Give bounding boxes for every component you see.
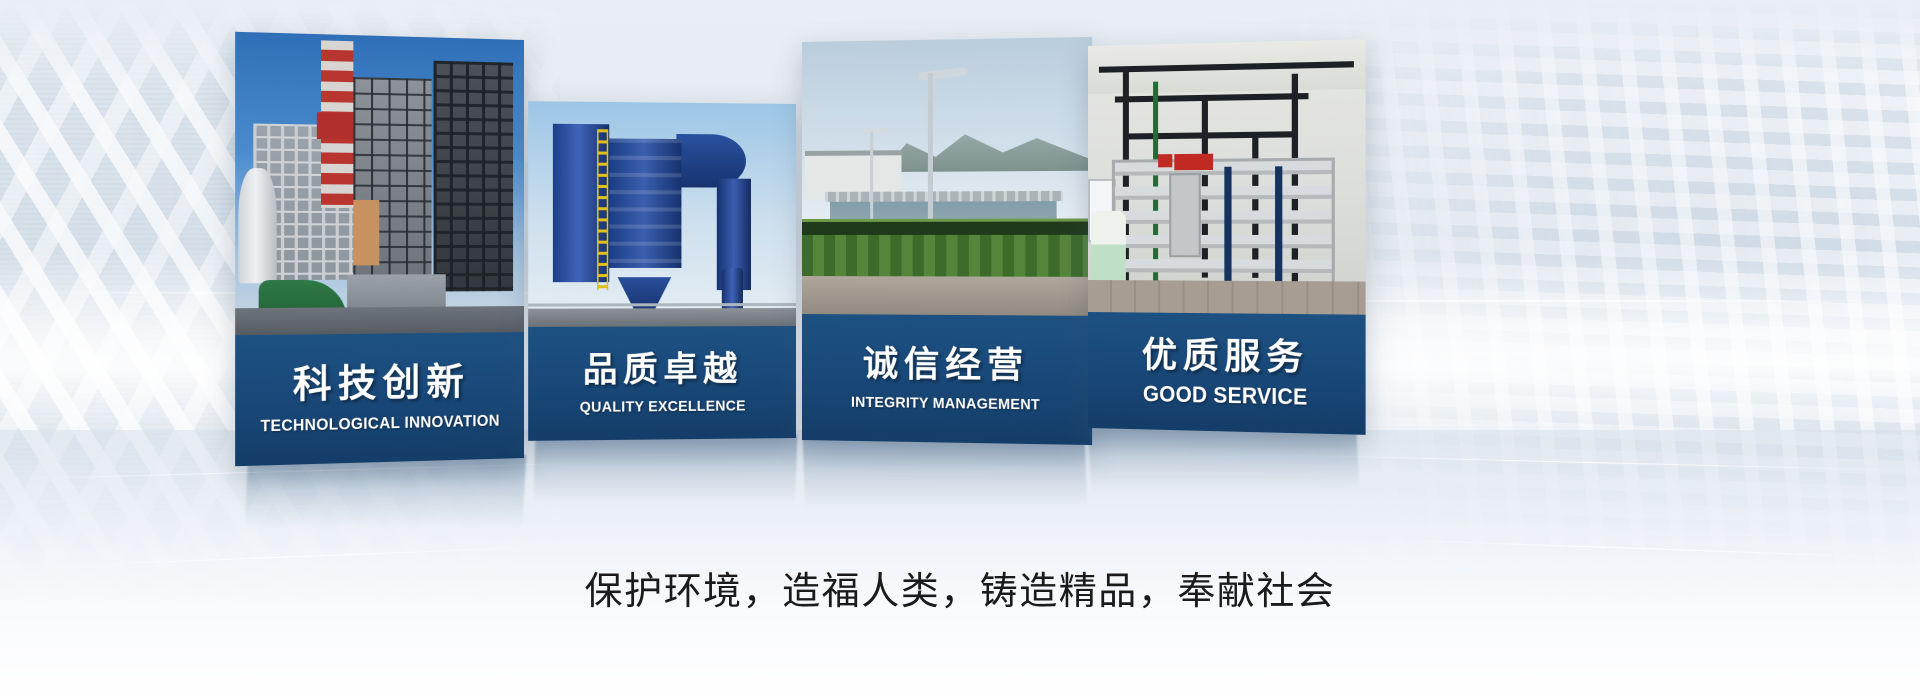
panel-title-cn: 优质服务 (1142, 334, 1309, 380)
panel-reflection (803, 436, 1088, 520)
panel-title-en: QUALITY EXCELLENCE (580, 395, 746, 419)
panel-title-en: GOOD SERVICE (1143, 380, 1308, 412)
floor-line (0, 461, 640, 480)
ro-water-treatment-room-photo (1088, 39, 1366, 315)
panel-reflection (244, 455, 527, 541)
panel-title-cn: 品质卓越 (583, 348, 743, 391)
value-panel-quality-excellence[interactable]: 品质卓越 QUALITY EXCELLENCE (528, 101, 796, 441)
banner-tagline: 保护环境，造福人类，铸造精品，奉献社会 (0, 560, 1920, 615)
panel-title-en: INTEGRITY MANAGEMENT (851, 391, 1040, 416)
panel-caption: 诚信经营 INTEGRITY MANAGEMENT (802, 314, 1092, 445)
panel-caption: 科技创新 TECHNOLOGICAL INNOVATION (235, 332, 524, 466)
panel-title-cn: 科技创新 (293, 358, 470, 408)
panel-caption: 品质卓越 QUALITY EXCELLENCE (528, 326, 796, 441)
industrial-stack-plant-photo (235, 32, 524, 336)
floor-line (1260, 454, 1920, 471)
value-panel-integrity-management[interactable]: 诚信经营 INTEGRITY MANAGEMENT (802, 37, 1092, 445)
value-panel-good-service[interactable]: 优质服务 GOOD SERVICE (1088, 39, 1366, 435)
panel-title-cn: 诚信经营 (863, 342, 1029, 388)
value-panel-technological-innovation[interactable]: 科技创新 TECHNOLOGICAL INNOVATION (235, 32, 524, 466)
wastewater-treatment-plant-photo (802, 37, 1092, 316)
company-values-banner: 科技创新 TECHNOLOGICAL INNOVATION 品质卓越 QUALI… (0, 0, 1920, 700)
blue-dust-collector-photo (528, 101, 796, 327)
panel-title-en: TECHNOLOGICAL INNOVATION (261, 409, 500, 439)
floor-line (1380, 539, 1900, 558)
panel-caption: 优质服务 GOOD SERVICE (1088, 312, 1366, 435)
panel-reflection (533, 435, 798, 517)
panel-reflection (1088, 424, 1360, 504)
